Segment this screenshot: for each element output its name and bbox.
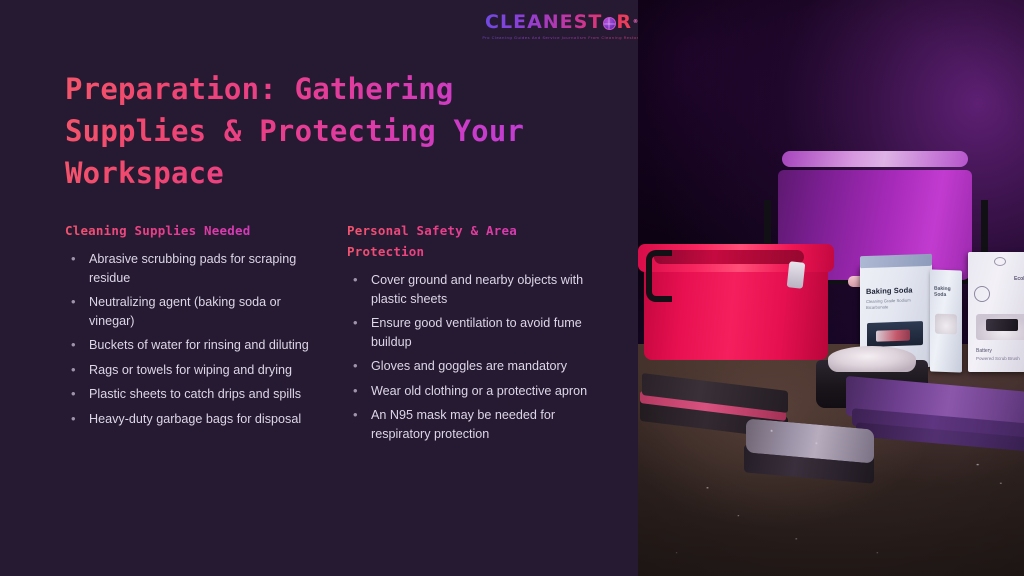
slide-title: Preparation: Gathering Supplies & Protec… — [65, 68, 555, 194]
baking-soda-box-title: Baking Soda — [866, 285, 913, 296]
eco-scrub-box: Ecobox Battery Powered Scrub Brush — [968, 252, 1024, 372]
list-item: Gloves and goggles are mandatory — [347, 357, 595, 376]
list-item: Plastic sheets to catch drips and spills — [65, 385, 313, 404]
bullet-list-cleaning-supplies: Abrasive scrubbing pads for scraping res… — [65, 250, 313, 428]
list-item: Heavy-duty garbage bags for disposal — [65, 410, 313, 429]
globe-icon — [603, 17, 616, 30]
brand-tagline: Pro Cleaning Guides And Service Journali… — [482, 34, 641, 41]
baking-soda-powder — [828, 346, 916, 372]
hero-photo: Baking Soda Cleaning Grade Sodium Bicarb… — [638, 0, 1024, 576]
grey-scrub-sponge — [742, 424, 876, 484]
pink-bucket-interior — [654, 250, 804, 264]
bullet-list-personal-safety: Cover ground and nearby objects with pla… — [347, 271, 595, 443]
brand-name-first: CLEANEST — [485, 12, 602, 33]
list-item: An N95 mask may be needed for respirator… — [347, 406, 595, 443]
column-cleaning-supplies: Cleaning Supplies Needed Abrasive scrubb… — [65, 220, 313, 449]
eco-box-caption-secondary: Powered Scrub Brush — [976, 356, 1020, 361]
brand-wordmark: CLEANEST R ® — [485, 12, 639, 33]
eco-box-caption: Battery — [976, 348, 992, 354]
side-box-image — [935, 314, 957, 335]
side-box-title: Baking Soda — [934, 286, 962, 299]
list-item: Rags or towels for wiping and drying — [65, 361, 313, 380]
eco-box-brand: Ecobox — [1014, 276, 1024, 282]
baking-soda-side-box: Baking Soda — [930, 269, 962, 372]
list-item: Buckets of water for rinsing and dilutin… — [65, 336, 313, 355]
hang-hole-icon — [994, 257, 1006, 266]
pink-bucket-handle — [646, 250, 672, 302]
eco-box-image — [976, 314, 1024, 340]
seal-icon — [974, 286, 990, 302]
list-item: Ensure good ventilation to avoid fume bu… — [347, 314, 595, 351]
baking-soda-box-top — [860, 254, 932, 269]
brand-name-last: R — [616, 12, 632, 33]
column-heading: Personal Safety & Area Protection — [347, 220, 595, 262]
list-item: Neutralizing agent (baking soda or vineg… — [65, 293, 313, 330]
slide-root: CLEANEST R ® Pro Cleaning Guides And Ser… — [0, 0, 1024, 576]
list-item: Abrasive scrubbing pads for scraping res… — [65, 250, 313, 287]
list-item: Cover ground and nearby objects with pla… — [347, 271, 595, 308]
baking-soda-box-subtitle: Cleaning Grade Sodium Bicarbonate — [866, 297, 932, 311]
content-columns: Cleaning Supplies Needed Abrasive scrubb… — [65, 220, 595, 449]
baking-soda-box-image — [867, 321, 923, 347]
list-item: Wear old clothing or a protective apron — [347, 382, 595, 401]
brand-logo[interactable]: CLEANEST R ® Pro Cleaning Guides And Ser… — [492, 12, 632, 44]
purple-bucket-lid-highlight — [782, 151, 968, 167]
column-heading: Cleaning Supplies Needed — [65, 220, 313, 241]
column-personal-safety: Personal Safety & Area Protection Cover … — [347, 220, 595, 449]
pink-bucket-clip — [787, 261, 806, 289]
pink-bucket — [638, 244, 834, 360]
